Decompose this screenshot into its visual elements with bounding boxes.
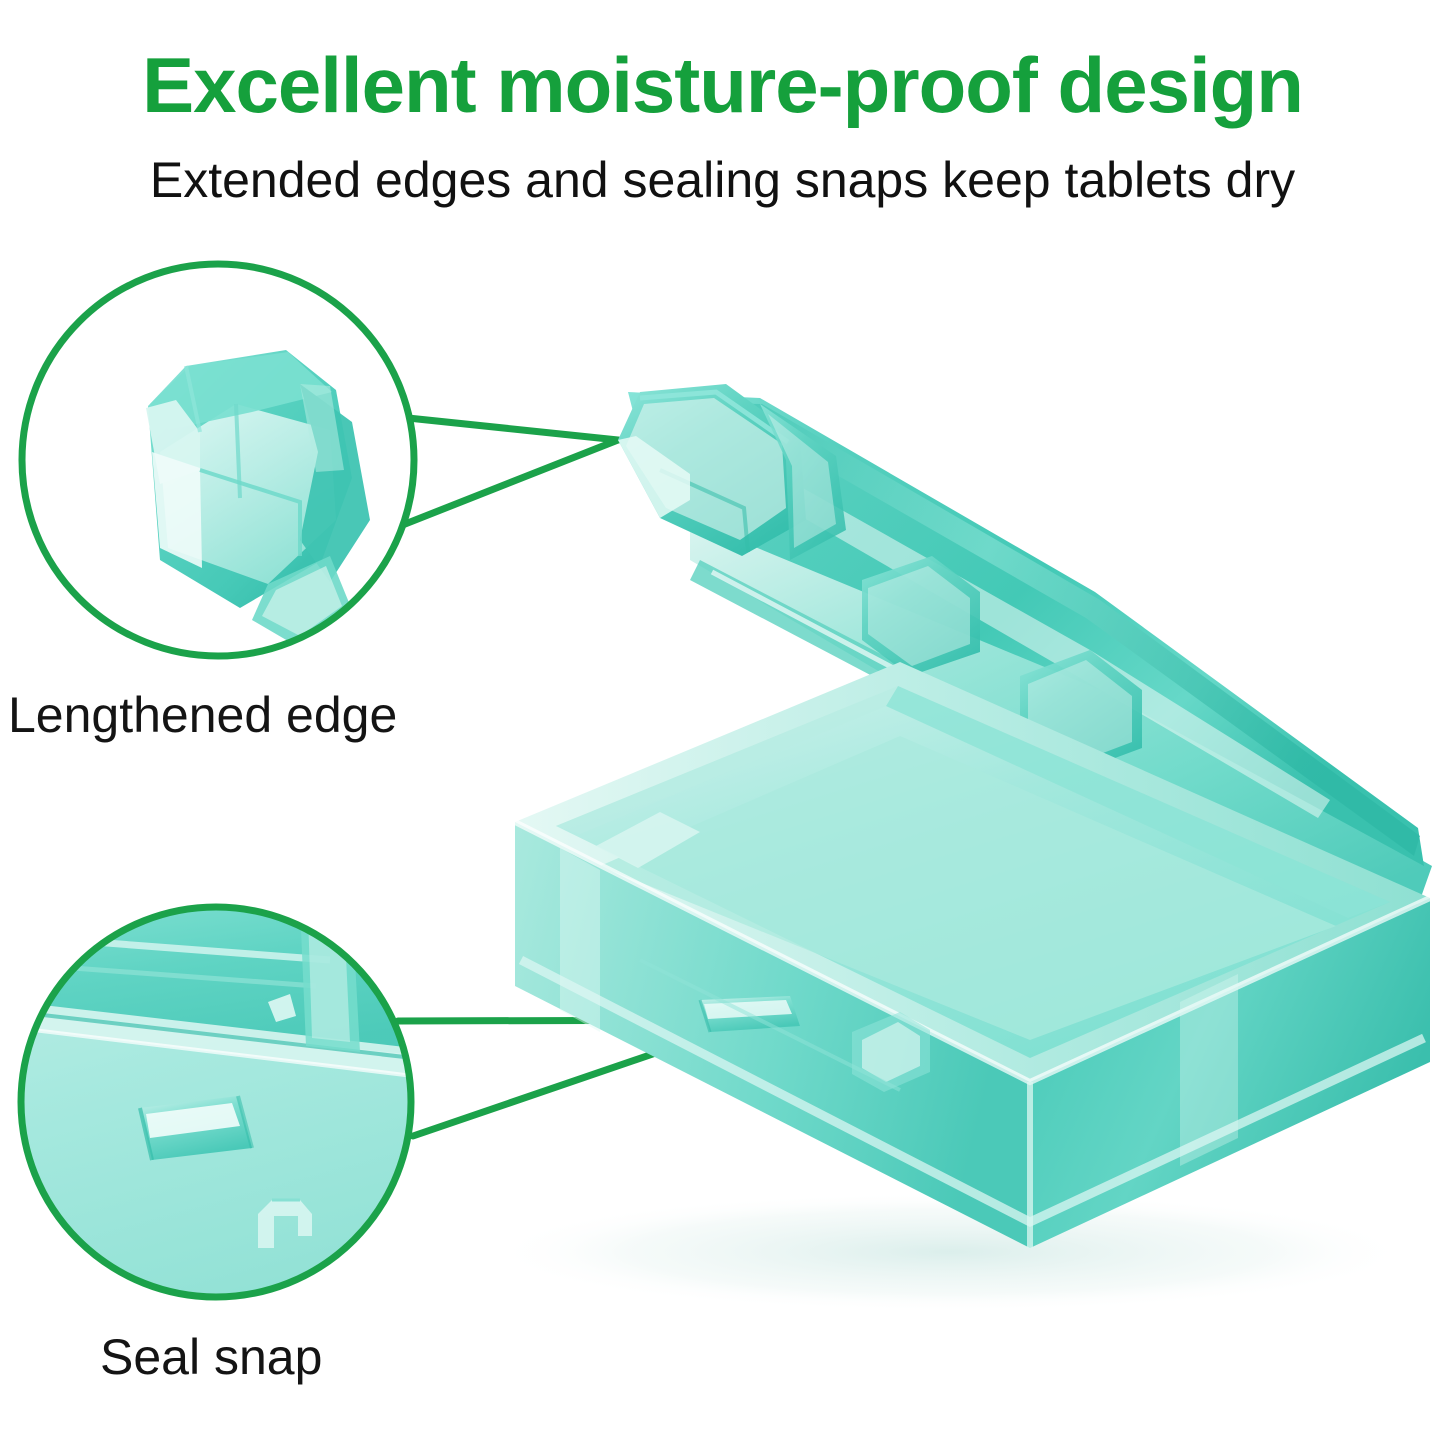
infographic-page: Excellent moisture-proof design Extended… xyxy=(0,0,1445,1445)
product-shadow xyxy=(490,1192,1410,1312)
product-illustration xyxy=(0,0,1445,1445)
leader-line-lengthened-edge xyxy=(395,418,618,528)
callout-circle-seal-snap xyxy=(0,900,460,1320)
callout-circle-lengthened-edge xyxy=(22,264,414,656)
